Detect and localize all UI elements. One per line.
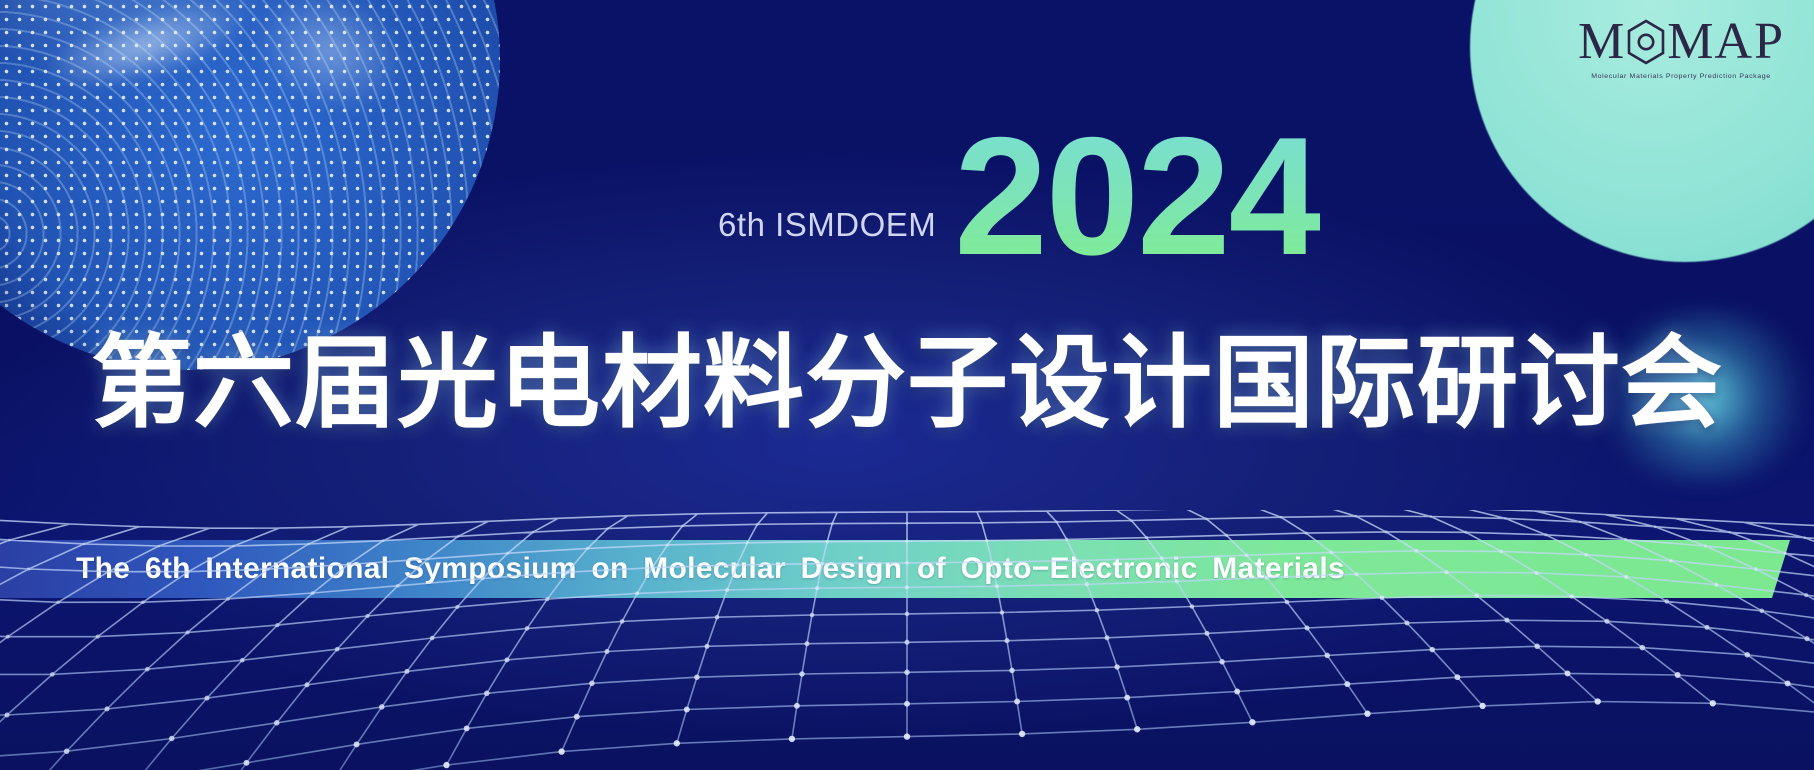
- edition-year-row: 6th ISMDOEM 2024: [0, 128, 1814, 266]
- momap-letter-p: P: [1754, 16, 1784, 68]
- momap-logo-subtitle: Molecular Materials Property Prediction …: [1566, 73, 1796, 80]
- conference-banner: M MA P Molecular Materials Property Pred…: [0, 0, 1814, 770]
- year-number: 2024: [954, 128, 1320, 266]
- mesh-svg: [0, 510, 1814, 770]
- edition-label: 6th ISMDOEM: [718, 206, 936, 266]
- page-title-chinese: 第六届光电材料分子设计国际研讨会: [0, 330, 1814, 439]
- momap-logo[interactable]: M MA P Molecular Materials Property Pred…: [1566, 16, 1796, 80]
- perspective-mesh-graphic: [0, 510, 1814, 770]
- momap-wordmark: M MA P: [1566, 16, 1796, 68]
- momap-letter-m1: M: [1578, 16, 1625, 68]
- momap-letters-ma: MA: [1667, 16, 1753, 68]
- hexagon-o-icon: [1626, 19, 1666, 65]
